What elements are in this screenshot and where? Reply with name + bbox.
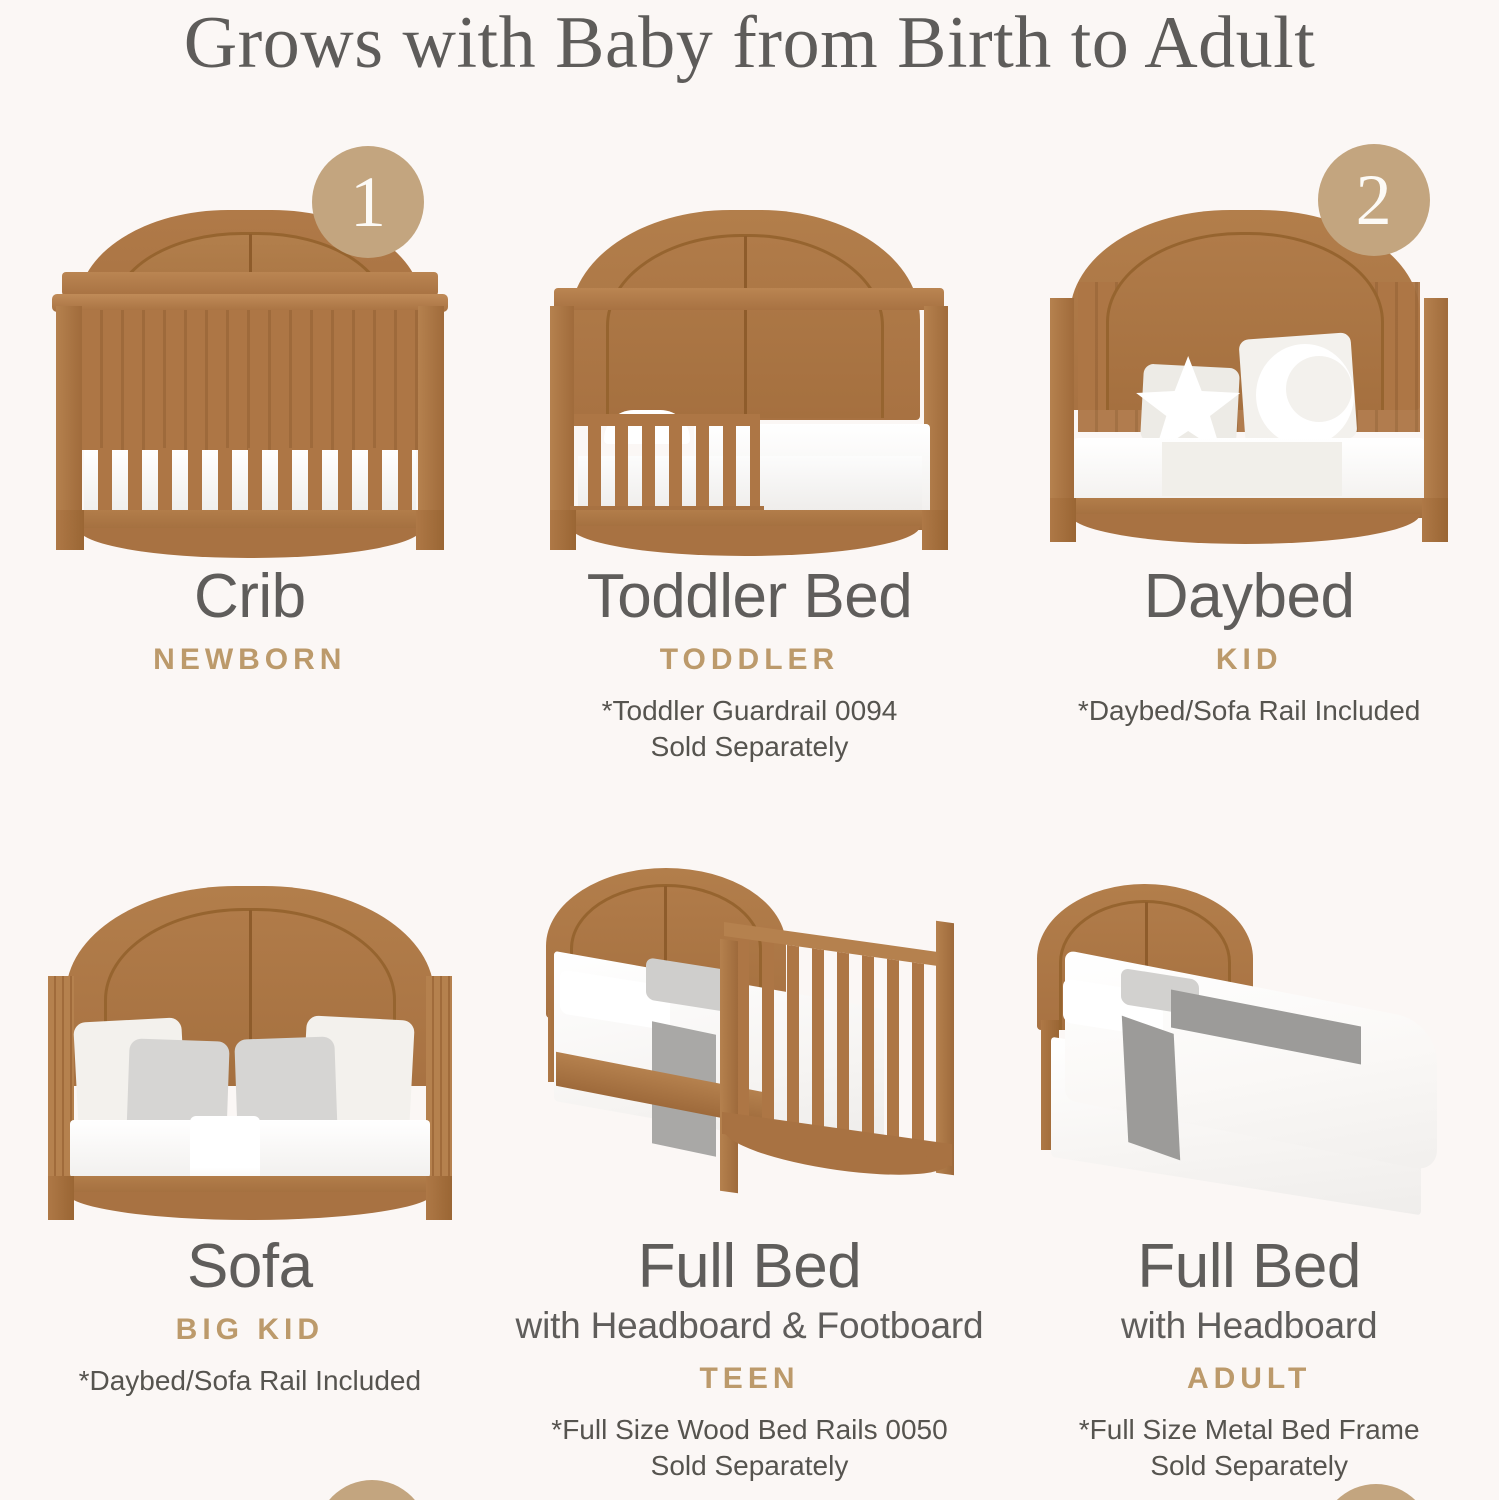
full-bed-adult-subtitle: with Headboard bbox=[999, 1303, 1499, 1348]
full-bed-headboard-footboard-illustration bbox=[500, 790, 1000, 1220]
crib-left-leg bbox=[56, 510, 84, 550]
toddler-headboard-divider bbox=[744, 236, 747, 420]
stage-cell-full-bed-teen: 5 bbox=[500, 790, 1000, 1500]
crib-right-post bbox=[418, 306, 444, 532]
full-bed-adult-caption: Full Bed with Headboard ADULT *Full Size… bbox=[999, 1220, 1499, 1484]
daybed-right-leg bbox=[1422, 498, 1448, 542]
full-bed-adult-note: *Full Size Metal Bed Frame Sold Separate… bbox=[999, 1412, 1499, 1484]
toddler-shoulder-rail bbox=[554, 288, 944, 310]
toddler-left-leg bbox=[550, 510, 576, 550]
full-bed-adult-gray-runner bbox=[1122, 1016, 1180, 1161]
daybed-left-leg bbox=[1050, 498, 1076, 542]
toddler-bed-title: Toddler Bed bbox=[500, 564, 1000, 629]
full-bed-teen-footboard-right-post bbox=[936, 921, 954, 1176]
sofa-note: *Daybed/Sofa Rail Included bbox=[0, 1363, 500, 1399]
daybed-stage-label: KID bbox=[999, 643, 1499, 677]
toddler-right-leg bbox=[922, 510, 948, 550]
stage-cell-sofa: 4 bbox=[0, 790, 500, 1500]
crib-slat-panel bbox=[82, 310, 418, 450]
stage-badge-1: 1 bbox=[312, 146, 424, 258]
sofa-illustration bbox=[0, 790, 500, 1220]
daybed-apron bbox=[1070, 514, 1420, 544]
stage-cell-toddler-bed: 2 bbox=[500, 120, 1000, 790]
full-bed-teen-caption: Full Bed with Headboard & Footboard TEEN… bbox=[500, 1220, 1000, 1484]
full-bed-teen-footboard-slats bbox=[724, 922, 952, 1150]
full-bed-headboard-illustration bbox=[999, 790, 1499, 1220]
toddler-bed-stage-label: TODDLER bbox=[500, 643, 1000, 677]
crib-caption: Crib NEWBORN bbox=[0, 550, 500, 677]
sofa-apron bbox=[66, 1192, 434, 1220]
toddler-bed-note: *Toddler Guardrail 0094 Sold Separately bbox=[500, 693, 1000, 765]
daybed-caption: Daybed KID *Daybed/Sofa Rail Included bbox=[999, 550, 1499, 729]
daybed-left-post bbox=[1050, 298, 1074, 532]
toddler-left-post bbox=[550, 306, 574, 532]
stage-cell-crib: 1 bbox=[0, 120, 500, 790]
moon-pillow-icon bbox=[1256, 344, 1354, 446]
daybed-mattress-band bbox=[1162, 442, 1342, 496]
crib-graphic bbox=[50, 210, 450, 550]
crib-stage-label: NEWBORN bbox=[0, 643, 500, 677]
sofa-left-leg bbox=[48, 1176, 74, 1220]
daybed-note: *Daybed/Sofa Rail Included bbox=[999, 693, 1499, 729]
sofa-caption: Sofa BIG KID *Daybed/Sofa Rail Included bbox=[0, 1220, 500, 1399]
full-bed-teen-title: Full Bed bbox=[500, 1234, 1000, 1299]
daybed-right-post bbox=[1424, 298, 1448, 532]
sofa-title: Sofa bbox=[0, 1234, 500, 1299]
sofa-right-leg bbox=[426, 1176, 452, 1220]
stage-grid: 1 bbox=[0, 120, 1499, 1500]
toddler-bed-caption: Toddler Bed TODDLER *Toddler Guardrail 0… bbox=[500, 550, 1000, 765]
crib-front-slats bbox=[82, 448, 418, 514]
full-bed-teen-footboard-left-post bbox=[720, 939, 738, 1194]
full-bed-adult-title: Full Bed bbox=[999, 1234, 1499, 1299]
sofa-stage-label: BIG KID bbox=[0, 1313, 500, 1347]
toddler-bed-illustration bbox=[500, 120, 1000, 550]
crib-left-post bbox=[56, 306, 82, 532]
crib-title: Crib bbox=[0, 564, 500, 629]
toddler-guardrail bbox=[574, 414, 760, 514]
crib-illustration bbox=[0, 120, 500, 550]
sofa-graphic bbox=[40, 880, 460, 1220]
stage-cell-full-bed-adult: 6 Full Bed with Headboard A bbox=[999, 790, 1499, 1500]
infographic-page: Grows with Baby from Birth to Adult 1 bbox=[0, 0, 1499, 1500]
crib-shoulder-rail bbox=[62, 272, 438, 296]
daybed-graphic bbox=[1044, 210, 1454, 550]
full-bed-adult-graphic bbox=[1029, 880, 1469, 1220]
crib-right-leg bbox=[416, 510, 444, 550]
full-bed-teen-graphic bbox=[534, 860, 964, 1220]
stage-badge-2: 2 bbox=[1318, 144, 1430, 256]
toddler-bed-graphic bbox=[544, 210, 954, 550]
daybed-title: Daybed bbox=[999, 564, 1499, 629]
page-title: Grows with Baby from Birth to Adult bbox=[0, 2, 1499, 85]
full-bed-adult-stage-label: ADULT bbox=[999, 1362, 1499, 1396]
full-bed-teen-subtitle: with Headboard & Footboard bbox=[500, 1303, 1000, 1348]
full-bed-teen-stage-label: TEEN bbox=[500, 1362, 1000, 1396]
full-bed-teen-note: *Full Size Wood Bed Rails 0050 Sold Sepa… bbox=[500, 1412, 1000, 1484]
stage-badge-4: 4 bbox=[316, 1480, 428, 1500]
